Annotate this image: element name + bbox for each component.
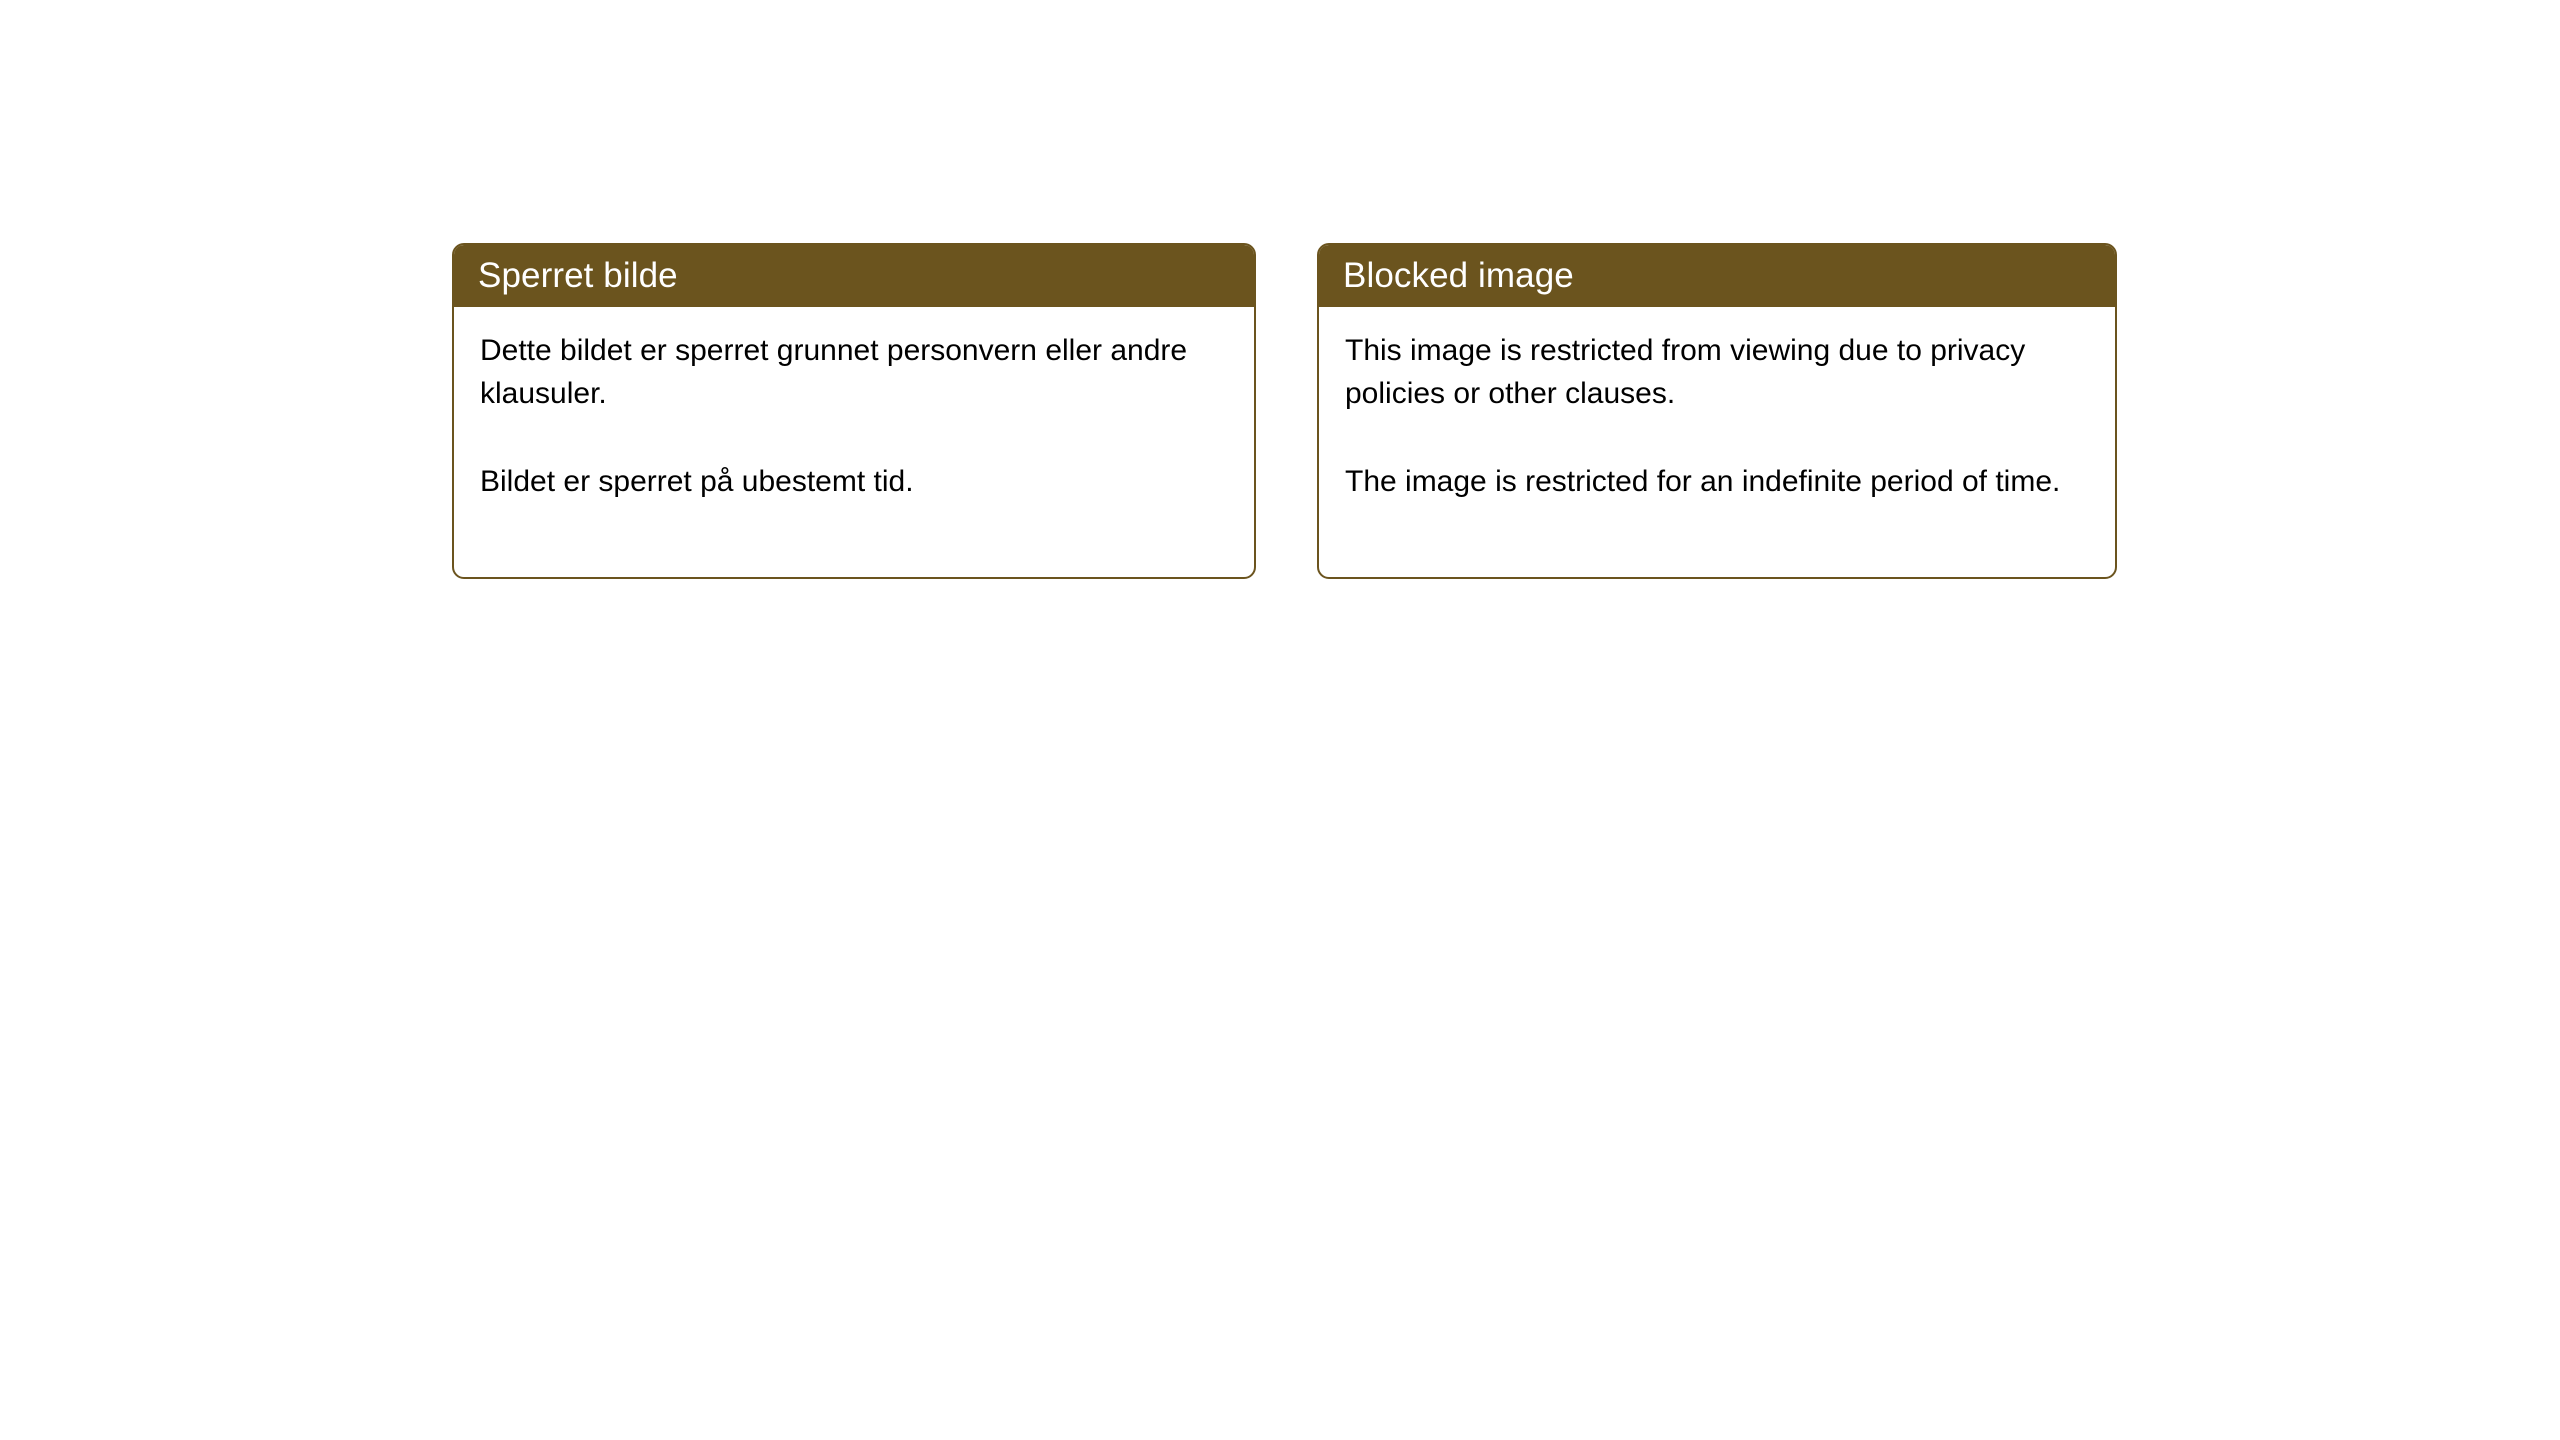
notice-card-row: Sperret bilde Dette bildet er sperret gr…: [452, 243, 2117, 579]
card-paragraph-primary-norwegian: Dette bildet er sperret grunnet personve…: [480, 329, 1210, 415]
card-paragraph-primary-english: This image is restricted from viewing du…: [1345, 329, 2075, 415]
card-header-norwegian: Sperret bilde: [452, 243, 1256, 307]
card-title-norwegian: Sperret bilde: [478, 258, 678, 293]
card-title-english: Blocked image: [1343, 258, 1574, 293]
page-canvas: Sperret bilde Dette bildet er sperret gr…: [0, 0, 2560, 1440]
card-body-english: This image is restricted from viewing du…: [1319, 307, 2115, 577]
card-body-norwegian: Dette bildet er sperret grunnet personve…: [454, 307, 1254, 577]
card-paragraph-secondary-norwegian: Bildet er sperret på ubestemt tid.: [480, 460, 1210, 503]
card-paragraph-secondary-english: The image is restricted for an indefinit…: [1345, 460, 2075, 503]
card-header-english: Blocked image: [1317, 243, 2117, 307]
blocked-image-card-english: Blocked image This image is restricted f…: [1317, 243, 2117, 579]
blocked-image-card-norwegian: Sperret bilde Dette bildet er sperret gr…: [452, 243, 1256, 579]
